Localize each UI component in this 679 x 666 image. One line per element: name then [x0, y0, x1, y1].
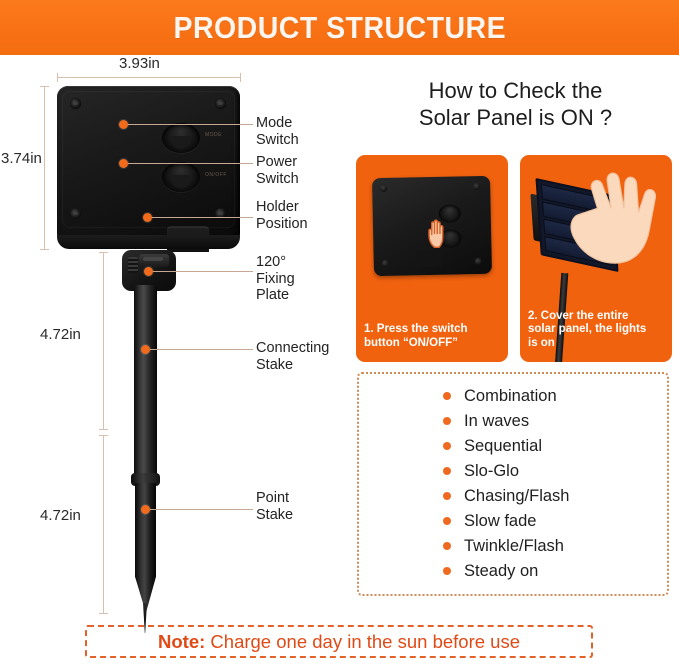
callout-leader-connecting-stake	[150, 349, 253, 350]
dimension-tick-left	[57, 73, 58, 82]
callout-leader-fixing-plate	[153, 271, 253, 272]
note-text: Note: Charge one day in the sun before u…	[158, 631, 520, 653]
page-title: PRODUCT STRUCTURE	[173, 10, 506, 46]
bullet-icon	[443, 467, 451, 475]
how-to-card-press-switch: 1. Press the switch button “ON/OFF”	[356, 155, 508, 362]
bullet-icon	[443, 392, 451, 400]
mode-label: Chasing/Flash	[464, 487, 569, 505]
callout-dot-connecting-stake	[141, 345, 150, 354]
dimension-tick-bottom	[40, 249, 49, 250]
callout-power-switch: Power Switch	[256, 154, 299, 187]
screw-icon	[380, 185, 387, 192]
how-to-card-cover-panel: 2. Cover the entire solar panel, the lig…	[520, 155, 672, 362]
screw-icon	[475, 258, 482, 265]
callout-leader-power-switch	[128, 163, 253, 164]
mode-label: Slow fade	[464, 512, 536, 530]
list-item: Slow fade	[443, 508, 569, 533]
callout-leader-holder-position	[152, 217, 253, 218]
mode-label: In waves	[464, 412, 529, 430]
screw-icon	[215, 98, 226, 109]
screw-icon	[382, 260, 389, 267]
product-structure-infographic: PRODUCT STRUCTURE 3.93in 3.74in MODE ON/…	[0, 0, 679, 666]
callout-dot-power-switch	[119, 159, 128, 168]
list-item: Twinkle/Flash	[443, 533, 569, 558]
panel-base-edge	[57, 235, 240, 249]
pointing-hand-icon	[426, 217, 454, 250]
note-body: Charge one day in the sun before use	[205, 631, 520, 652]
card-caption-press-switch: 1. Press the switch button “ON/OFF”	[364, 323, 502, 350]
power-switch-micro-label: ON/OFF	[205, 172, 227, 178]
dimension-tick-point-top	[99, 435, 108, 436]
callout-holder-position: Holder Position	[256, 199, 308, 232]
covering-hand-icon	[568, 169, 666, 273]
header-banner: PRODUCT STRUCTURE	[0, 0, 679, 55]
mode-switch-button[interactable]	[162, 123, 200, 153]
dimension-label-width: 3.93in	[119, 55, 160, 72]
callout-dot-fixing-plate	[144, 267, 153, 276]
bullet-icon	[443, 542, 451, 550]
connecting-stake	[134, 285, 157, 480]
bullet-icon	[443, 517, 451, 525]
callout-mode-switch: Mode Switch	[256, 115, 299, 148]
power-switch-button[interactable]	[162, 162, 200, 192]
dimension-label-point: 4.72in	[40, 507, 81, 524]
lighting-modes-box: Combination In waves Sequential Slo-Glo …	[357, 372, 669, 596]
dimension-tick-top	[40, 86, 49, 87]
how-to-title: How to Check the Solar Panel is ON ?	[352, 77, 679, 131]
bullet-icon	[443, 417, 451, 425]
product-diagram: 3.93in 3.74in MODE ON/OFF	[0, 55, 350, 615]
list-item: In waves	[443, 408, 569, 433]
mode-label: Combination	[464, 387, 557, 405]
fixing-plate-ridge	[128, 257, 138, 273]
callout-leader-mode-switch	[128, 124, 253, 125]
bullet-icon	[443, 442, 451, 450]
note-box: Note: Charge one day in the sun before u…	[85, 625, 593, 658]
lighting-modes-list: Combination In waves Sequential Slo-Glo …	[443, 383, 569, 583]
dimension-line-height	[44, 86, 45, 249]
note-prefix: Note:	[158, 631, 205, 652]
list-item: Sequential	[443, 433, 569, 458]
mode-switch-micro-label: MODE	[205, 132, 222, 138]
dimension-tick-connecting-top	[99, 252, 108, 253]
screw-icon	[473, 183, 480, 190]
callout-dot-holder-position	[143, 213, 152, 222]
callout-point-stake: Point Stake	[256, 490, 293, 523]
callout-dot-point-stake	[141, 505, 150, 514]
dimension-line-width	[57, 77, 240, 78]
callout-dot-mode-switch	[119, 120, 128, 129]
callout-fixing-plate: 120° Fixing Plate	[256, 254, 295, 304]
dimension-tick-right	[240, 73, 241, 82]
how-to-section: How to Check the Solar Panel is ON ? 1. …	[352, 55, 679, 615]
dimension-line-connecting	[103, 252, 104, 429]
callout-leader-point-stake	[150, 509, 253, 510]
list-item: Combination	[443, 383, 569, 408]
mini-holder-slot	[416, 251, 442, 268]
dimension-tick-connecting-bottom	[99, 429, 108, 430]
bullet-icon	[443, 567, 451, 575]
fixing-plate-cap	[139, 254, 169, 267]
callout-connecting-stake: Connecting Stake	[256, 340, 329, 373]
mode-label: Slo-Glo	[464, 462, 519, 480]
screw-icon	[70, 208, 81, 219]
mode-label: Twinkle/Flash	[464, 537, 564, 555]
mode-label: Sequential	[464, 437, 542, 455]
dimension-label-connecting: 4.72in	[40, 326, 81, 343]
dimension-tick-point-bottom	[99, 613, 108, 614]
bullet-icon	[443, 492, 451, 500]
list-item: Slo-Glo	[443, 458, 569, 483]
list-item: Chasing/Flash	[443, 483, 569, 508]
screw-icon	[70, 98, 81, 109]
dimension-label-height: 3.74in	[1, 150, 42, 167]
dimension-line-point	[103, 435, 104, 613]
point-stake	[135, 483, 156, 613]
card-caption-cover-panel: 2. Cover the entire solar panel, the lig…	[528, 310, 666, 351]
list-item: Steady on	[443, 558, 569, 583]
mode-label: Steady on	[464, 562, 538, 580]
